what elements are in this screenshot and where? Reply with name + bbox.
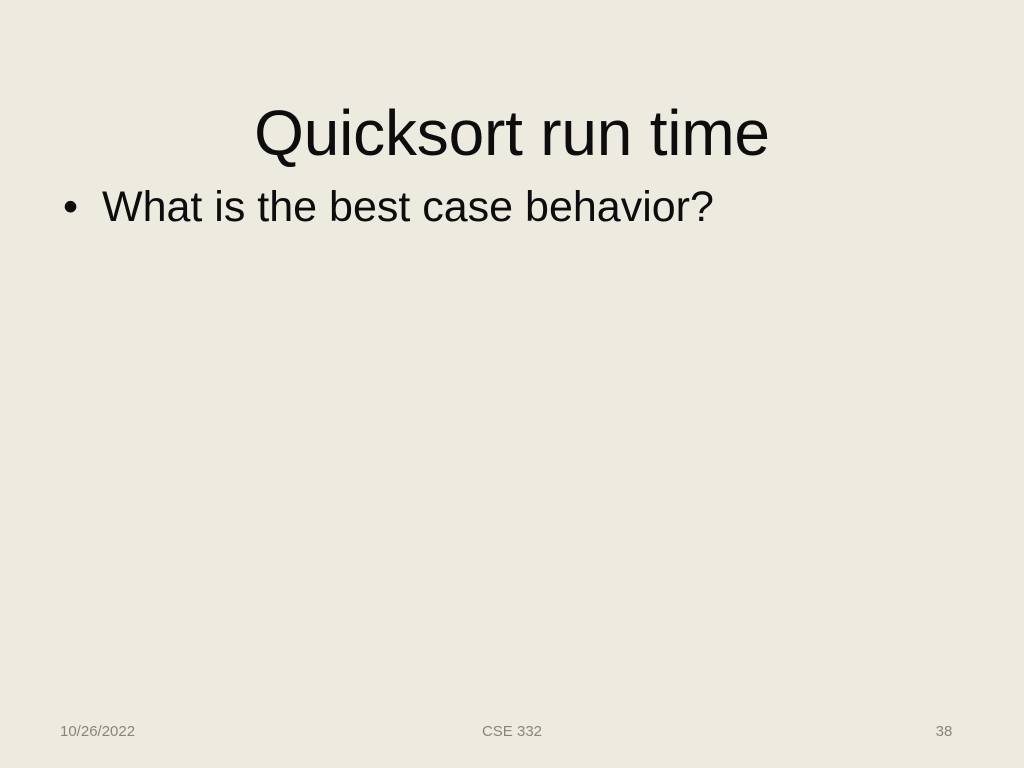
footer-course-label: CSE 332 — [0, 718, 1024, 746]
bullet-point-icon: • — [63, 182, 85, 232]
slide-canvas: Quicksort run time • What is the best ca… — [0, 0, 1024, 768]
list-item: • What is the best case behavior? — [56, 182, 968, 232]
page-title: Quicksort run time — [62, 101, 962, 166]
slide-body-bullet-list: • What is the best case behavior? — [56, 182, 968, 238]
slide-footer: 10/26/2022 CSE 332 38 — [0, 718, 1024, 750]
footer-slide-number: 38 — [874, 718, 1024, 746]
bullet-item-label: What is the best case behavior? — [102, 183, 714, 231]
